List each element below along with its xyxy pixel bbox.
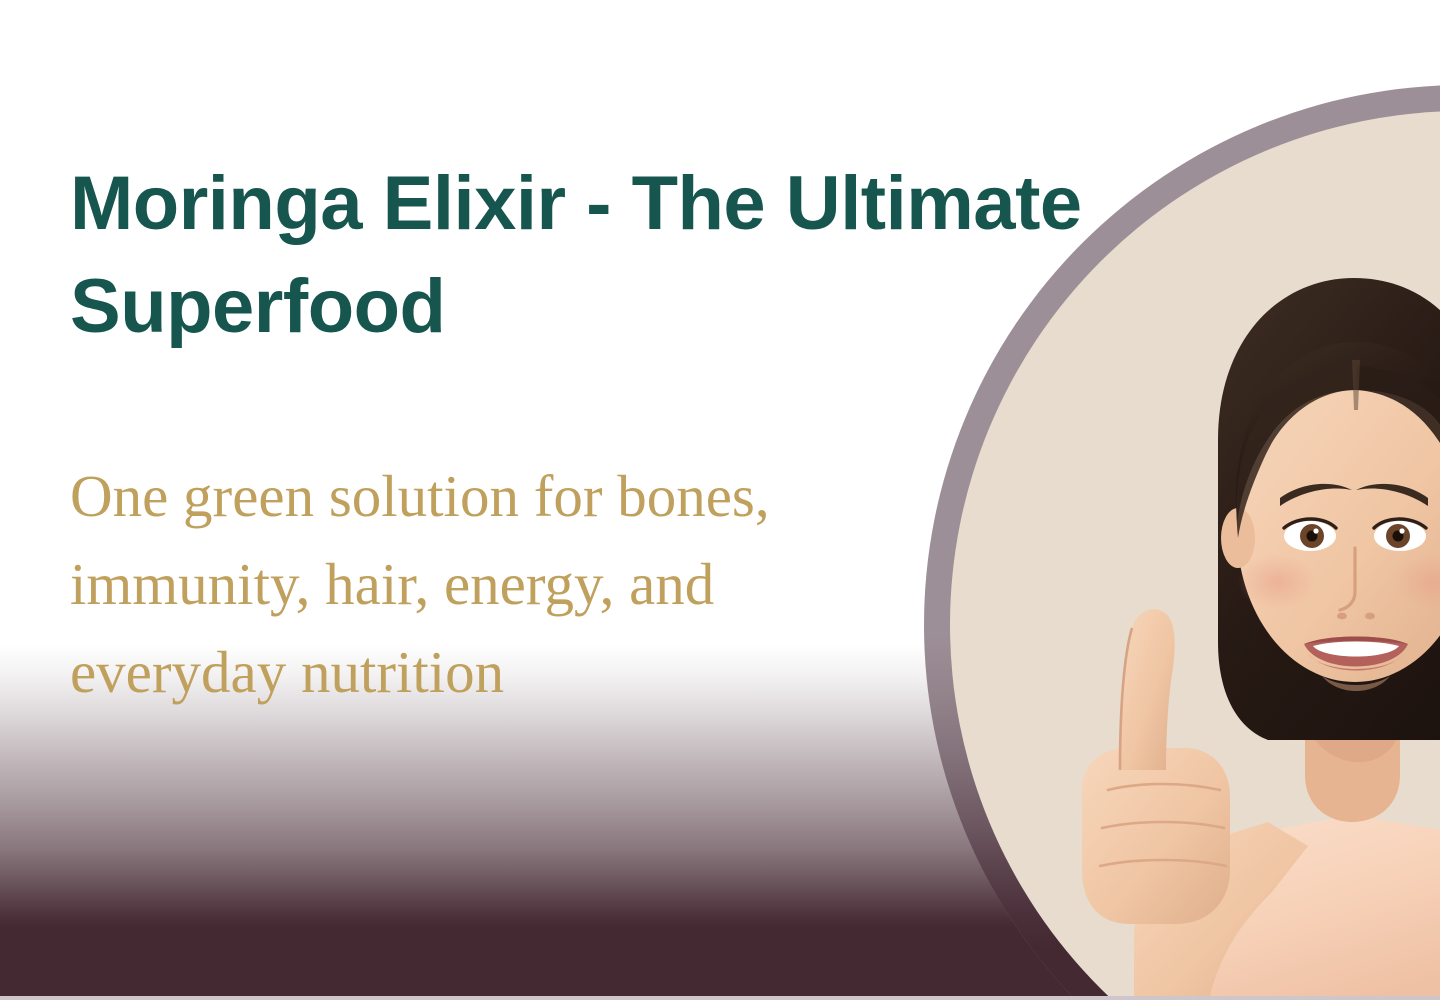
page-title: Moringa Elixir - The Ultimate Superfood — [70, 152, 1110, 358]
slide-canvas: Moringa Elixir - The Ultimate Superfood … — [0, 0, 1440, 1000]
bottom-edge-strip — [0, 996, 1440, 1000]
text-block: Moringa Elixir - The Ultimate Superfood … — [70, 152, 1110, 716]
page-subtitle: One green solution for bones, immunity, … — [70, 358, 920, 716]
